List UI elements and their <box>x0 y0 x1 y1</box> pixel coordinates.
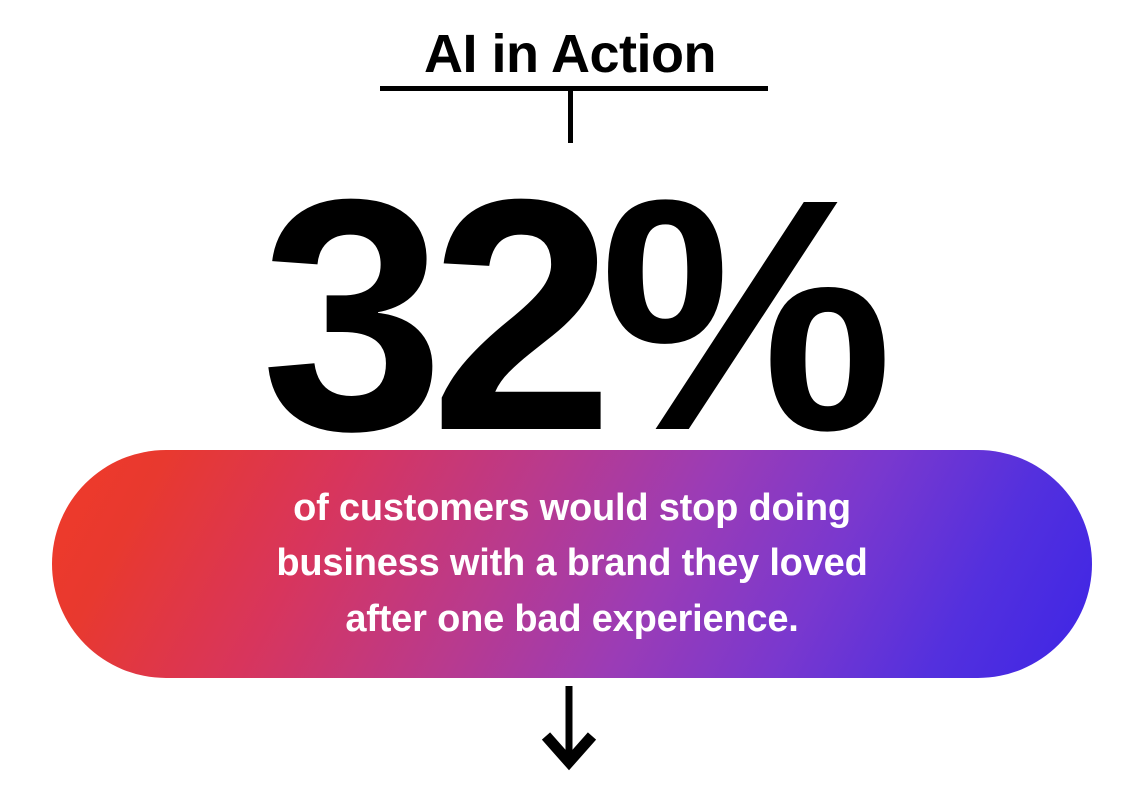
header-block: AI in Action <box>0 26 1140 83</box>
stat-value: 32% <box>0 150 1140 480</box>
callout-text: of customers would stop doing business w… <box>276 481 867 647</box>
title-divider-rule <box>380 86 768 91</box>
callout-line-3: after one bad experience. <box>276 592 867 647</box>
infographic-canvas: AI in Action 32% of customers would stop… <box>0 0 1140 798</box>
arrow-down-icon <box>538 686 600 774</box>
page-title: AI in Action <box>0 26 1140 83</box>
callout-line-1: of customers would stop doing <box>276 481 867 536</box>
callout-pill: of customers would stop doing business w… <box>52 450 1092 678</box>
callout-line-2: business with a brand they loved <box>276 536 867 591</box>
